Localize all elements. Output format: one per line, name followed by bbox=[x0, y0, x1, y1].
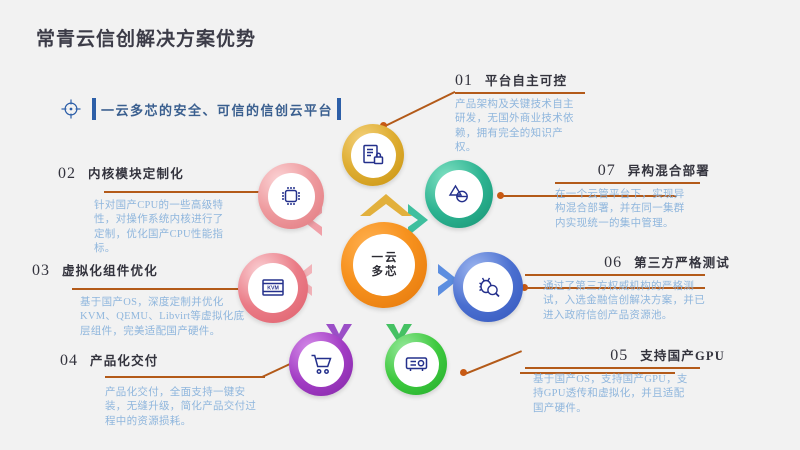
cpu-chip-icon bbox=[278, 183, 304, 209]
info-block-02: 02 内核模块定制化 针对国产CPU的一些高级特性，对操作系统内核进行了定制，优… bbox=[58, 163, 243, 257]
document-lock-icon bbox=[361, 143, 385, 167]
info-rule-06 bbox=[525, 274, 705, 276]
info-num-05: 05 bbox=[610, 347, 628, 365]
info-block-01: 01 平台自主可控 产品架构及关键技术自主研发，无国外商业技术依赖，拥有完全的知… bbox=[455, 70, 635, 156]
info-desc-02: 针对国产CPU的一些高级特性，对操作系统内核进行了定制，优化国产CPU性能指标。 bbox=[94, 199, 234, 257]
shopping-cart-icon bbox=[309, 352, 334, 377]
info-title-06: 第三方严格测试 bbox=[634, 252, 730, 271]
info-block-04: 04 产品化交付 产品化交付，全面支持一键安装，无缝升级，简化产品交付过程中的资… bbox=[60, 350, 260, 429]
info-title-01: 平台自主可控 bbox=[485, 70, 567, 89]
icon-circle-05[interactable] bbox=[385, 333, 447, 395]
hub-line-2: 多芯 bbox=[370, 265, 399, 279]
icon-circle-03[interactable]: KVM bbox=[238, 253, 308, 323]
info-desc-01: 产品架构及关键技术自主研发，无国外商业技术依赖，拥有完全的知识产权。 bbox=[455, 98, 583, 156]
info-desc-07: 在一个云管平台下，实现异构混合部署，并在同一集群内实现统一的集中管理。 bbox=[555, 188, 695, 232]
info-head-07: 07 异构混合部署 bbox=[520, 160, 710, 180]
icon-circle-06[interactable] bbox=[453, 252, 523, 322]
icon-circle-01[interactable] bbox=[342, 124, 404, 186]
info-head-06: 06 第三方严格测试 bbox=[525, 252, 730, 272]
info-head-04: 04 产品化交付 bbox=[60, 350, 260, 370]
svg-text:KVM: KVM bbox=[267, 286, 279, 292]
gpu-card-icon bbox=[404, 354, 429, 374]
hub-line-1: 一云 bbox=[370, 251, 399, 265]
center-hub: 一云 多芯 bbox=[341, 222, 427, 308]
info-title-05: 支持国产GPU bbox=[640, 345, 725, 364]
info-block-05: 05 支持国产GPU 基于国产OS，支持国产GPU，支持GPU透传和虚拟化，并且… bbox=[525, 345, 725, 416]
subtitle-text: 一云多芯的安全、可信的信创云平台 bbox=[96, 100, 337, 119]
info-head-02: 02 内核模块定制化 bbox=[58, 163, 243, 183]
info-num-04: 04 bbox=[60, 352, 78, 370]
connector-dot-07 bbox=[497, 192, 504, 199]
bug-search-icon bbox=[475, 274, 502, 301]
info-rule-01 bbox=[455, 92, 585, 94]
slide-canvas: 常青云信创解决方案优势 一云多芯的安全、可信的信创云平台 bbox=[0, 0, 800, 450]
connector-line-05 bbox=[465, 350, 522, 374]
info-title-03: 虚拟化组件优化 bbox=[62, 260, 158, 279]
info-rule-05 bbox=[525, 367, 700, 369]
info-desc-06: 通过了第三方权威机构的严格测试，入选金融信创解决方案，并已进入政府信创产品资源池… bbox=[543, 280, 705, 324]
page-title: 常青云信创解决方案优势 bbox=[36, 24, 256, 51]
shapes-merge-icon bbox=[446, 181, 472, 207]
accent-bar-right bbox=[337, 98, 341, 120]
info-head-01: 01 平台自主可控 bbox=[455, 70, 635, 90]
info-num-01: 01 bbox=[455, 72, 473, 90]
info-block-07: 07 异构混合部署 在一个云管平台下，实现异构混合部署，并在同一集群内实现统一的… bbox=[520, 160, 710, 231]
info-num-07: 07 bbox=[598, 162, 616, 180]
info-block-06: 06 第三方严格测试 通过了第三方权威机构的严格测试，入选金融信创解决方案，并已… bbox=[525, 252, 730, 323]
connector-line-01 bbox=[383, 91, 456, 128]
icon-circle-04[interactable] bbox=[289, 332, 353, 396]
subtitle-banner: 一云多芯的安全、可信的信创云平台 bbox=[60, 96, 341, 122]
info-head-05: 05 支持国产GPU bbox=[525, 345, 725, 365]
crosshair-target-icon bbox=[60, 98, 82, 120]
info-title-07: 异构混合部署 bbox=[628, 160, 710, 179]
icon-circle-07[interactable] bbox=[425, 160, 493, 228]
info-num-03: 03 bbox=[32, 262, 50, 280]
info-title-04: 产品化交付 bbox=[90, 350, 159, 369]
kvm-monitor-icon: KVM bbox=[260, 277, 286, 299]
info-desc-04: 产品化交付，全面支持一键安装，无缝升级，简化产品交付过程中的资源损耗。 bbox=[105, 386, 263, 430]
connector-dot-05 bbox=[460, 369, 467, 376]
icon-circle-02[interactable] bbox=[258, 163, 324, 229]
info-head-03: 03 虚拟化组件优化 bbox=[32, 260, 232, 280]
info-desc-03: 基于国产OS，深度定制并优化KVM、QEMU、Libvirt等虚拟化底层组件，完… bbox=[80, 296, 245, 340]
info-block-03: 03 虚拟化组件优化 基于国产OS，深度定制并优化KVM、QEMU、Libvir… bbox=[32, 260, 232, 339]
info-num-02: 02 bbox=[58, 165, 76, 183]
info-num-06: 06 bbox=[604, 254, 622, 272]
info-desc-05: 基于国产OS，支持国产GPU，支持GPU透传和虚拟化，并且适配国产硬件。 bbox=[533, 373, 691, 417]
info-title-02: 内核模块定制化 bbox=[88, 163, 184, 182]
info-rule-07 bbox=[555, 182, 700, 184]
